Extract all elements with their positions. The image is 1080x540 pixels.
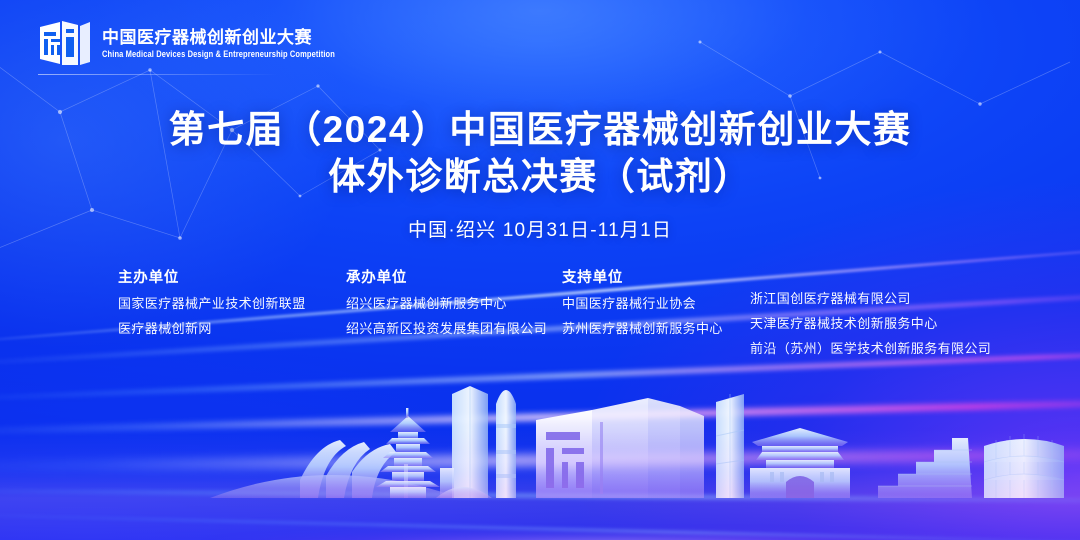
supporter-item: 天津医疗器械技术创新服务中心: [750, 317, 1024, 330]
competition-logo-monument: [536, 398, 704, 498]
ground-haze: [0, 430, 1080, 540]
host-item: 医疗器械创新网: [118, 322, 346, 335]
organizations-block: 主办单位 国家医疗器械产业技术创新联盟 医疗器械创新网 承办单位 绍兴医疗器械创…: [118, 266, 1024, 367]
organizer-item: 绍兴医疗器械创新服务中心: [346, 297, 562, 310]
host-item: 国家医疗器械产业技术创新联盟: [118, 297, 346, 310]
page-title-line2: 体外诊断总决赛（试剂）: [0, 153, 1080, 200]
brand-name-cn: 中国医疗器械创新创业大赛: [102, 29, 335, 46]
organizer-column: 承办单位 绍兴医疗器械创新服务中心 绍兴高新区投资发展集团有限公司: [346, 266, 562, 347]
supporter-item: 中国医疗器械行业协会: [562, 297, 750, 310]
open-book-door-logo-icon: [38, 18, 92, 68]
host-heading: 主办单位: [118, 266, 346, 287]
city-skyline: [0, 372, 1080, 502]
supporter-heading: 支持单位: [562, 266, 750, 287]
host-column: 主办单位 国家医疗器械产业技术创新联盟 医疗器械创新网: [118, 266, 346, 347]
supporter-item: 浙江国创医疗器械有限公司: [750, 292, 1024, 305]
organizer-item: 绍兴高新区投资发展集团有限公司: [346, 322, 562, 335]
organizer-heading: 承办单位: [346, 266, 562, 287]
opera-house: [300, 440, 396, 498]
supporter-column: 支持单位 中国医疗器械行业协会 苏州医疗器械创新服务中心 浙江国创医疗器械有限公…: [562, 266, 1024, 367]
brand-logo: 中国医疗器械创新创业大赛 China Medical Devices Desig…: [38, 18, 335, 68]
supporter-subcolumn-right: 浙江国创医疗器械有限公司 天津医疗器械技术创新服务中心 前沿（苏州）医学技术创新…: [750, 266, 1024, 367]
twin-tower: [436, 386, 492, 498]
curved-stadium: [984, 434, 1064, 498]
brand-divider: [38, 74, 278, 75]
supporter-item: 前沿（苏州）医学技术创新服务有限公司: [750, 342, 1024, 355]
chinese-gate: [750, 428, 850, 498]
pagoda: [376, 408, 440, 498]
supporter-item: 苏州医疗器械创新服务中心: [562, 322, 750, 335]
hero-titles: 第七届（2024）中国医疗器械创新创业大赛 体外诊断总决赛（试剂） 中国·绍兴 …: [0, 106, 1080, 242]
banner-stage: 中国医疗器械创新创业大赛 China Medical Devices Desig…: [0, 0, 1080, 540]
glass-tower: [716, 394, 744, 498]
stepped-pyramid-building: [856, 438, 972, 498]
supporter-subcolumn-left: 支持单位 中国医疗器械行业协会 苏州医疗器械创新服务中心: [562, 266, 750, 367]
page-title-line1: 第七届（2024）中国医疗器械创新创业大赛: [0, 106, 1080, 153]
event-location-date: 中国·绍兴 10月31日-11月1日: [0, 215, 1080, 242]
brand-name-en: China Medical Devices Design & Entrepren…: [102, 50, 335, 59]
spire-tower: [496, 390, 516, 498]
